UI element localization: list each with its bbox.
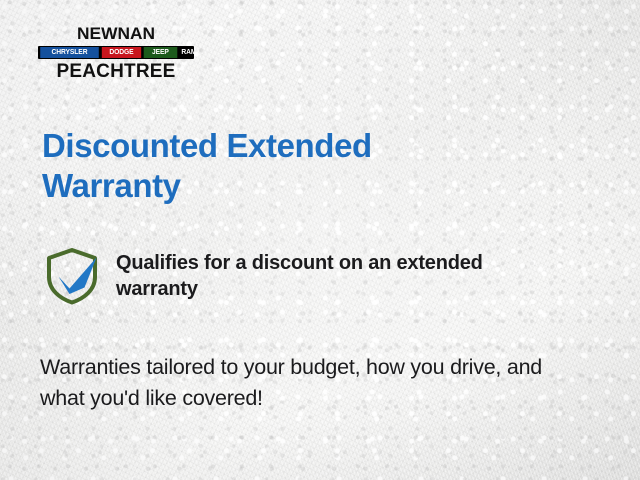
brand-badge-dodge: DODGE	[102, 47, 141, 58]
shield-check-icon	[44, 247, 100, 305]
benefit-bullet: Qualifies for a discount on an extended …	[44, 246, 514, 305]
promo-slide: NEWNAN CHRYSLER DODGE JEEP RAM PEACHTREE…	[0, 0, 640, 480]
body-paragraph: Warranties tailored to your budget, how …	[40, 352, 550, 413]
brand-badge-chrysler: CHRYSLER	[40, 47, 99, 58]
dealer-name-bottom: PEACHTREE	[38, 62, 194, 81]
benefit-bullet-text: Qualifies for a discount on an extended …	[116, 246, 514, 303]
brand-badge-ram: RAM	[179, 47, 194, 58]
brand-badge-jeep: JEEP	[144, 47, 177, 58]
page-title: Discounted Extended Warranty	[42, 126, 472, 207]
dealer-name-top: NEWNAN	[36, 20, 195, 44]
dealer-logo: NEWNAN CHRYSLER DODGE JEEP RAM PEACHTREE	[38, 20, 194, 81]
brand-badge-strip: CHRYSLER DODGE JEEP RAM	[38, 46, 194, 59]
